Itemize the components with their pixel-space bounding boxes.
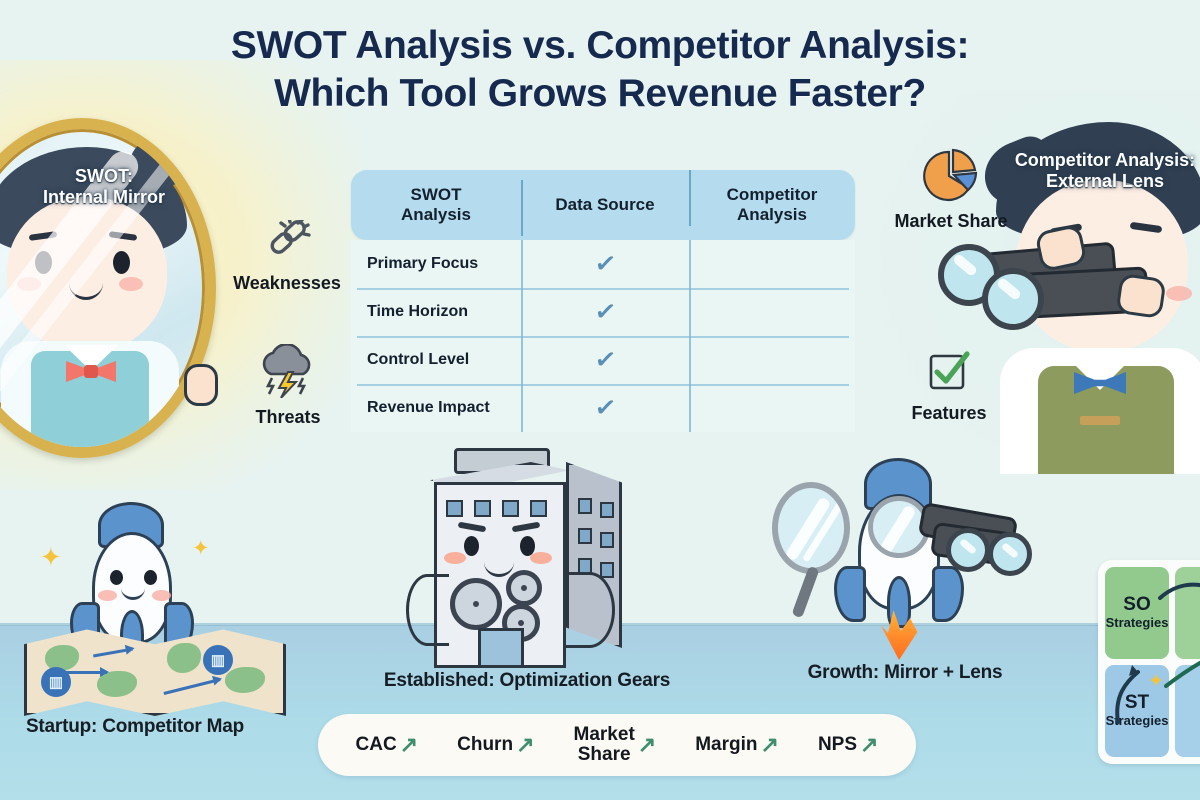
matrix-cell-word: Strategies [1106, 616, 1169, 630]
matrix-cell-so: SO Strategies [1105, 567, 1169, 659]
weaknesses-label: Weaknesses [232, 273, 342, 294]
trend-up-icon: ↗ [638, 733, 656, 756]
rocket-fin-center [887, 576, 911, 628]
metric-item: NPS ↗ [818, 733, 879, 756]
matrix-cell-wo-clipped: S [1175, 567, 1200, 659]
swot-mirror-illustration: SWOT: Internal Mirror [0, 118, 248, 478]
building-side-window [578, 528, 592, 544]
lens-figure-pocket [1080, 416, 1120, 425]
matrix-cell-word: Strategies [1106, 714, 1169, 728]
checkbox-icon [927, 350, 971, 394]
threats-group: Threats [238, 344, 338, 428]
map-pin-right: ▥ [203, 645, 233, 675]
check-icon: ✓ [593, 394, 617, 421]
sparkle-icon-left: ✦ [40, 544, 62, 570]
building-side-window [600, 502, 614, 518]
page-title: SWOT Analysis vs. Competitor Analysis: W… [0, 22, 1200, 118]
metric-label: Market Share [574, 725, 635, 765]
rocket-eye-left [110, 570, 123, 585]
building-window [474, 500, 491, 517]
rocket-fin-right [932, 566, 964, 622]
check-icon: ✓ [593, 298, 617, 325]
building-side-window [600, 562, 614, 578]
mirror-figure-eye-right [113, 251, 130, 274]
threats-label: Threats [238, 407, 338, 428]
metric-item: Churn ↗ [457, 733, 534, 756]
rocket-cheek-left [98, 590, 117, 601]
growth-binocular-lens-right [988, 532, 1032, 576]
competitor-lens-badge: Competitor Analysis: External Lens [990, 150, 1200, 192]
table-row: Time Horizon ✓ [351, 288, 855, 336]
startup-scene: ✦ ✦ ▥ ▥ Startup: Competitor Map [14, 492, 296, 732]
lens-figure-cheek [1166, 286, 1192, 301]
row-competitor-cell [689, 384, 855, 432]
table-row: Revenue Impact ✓ [351, 384, 855, 432]
matrix-cell-wt-clipped: S [1175, 665, 1200, 757]
features-group: Features [896, 350, 1002, 424]
rocket-fin-left [834, 566, 866, 622]
map-arrow-3 [163, 678, 220, 695]
mirror-figure-cheek-right [119, 277, 143, 291]
row-competitor-cell [689, 336, 855, 384]
trend-up-icon: ↗ [400, 733, 418, 756]
weaknesses-group: Weaknesses [232, 220, 342, 294]
market-share-label: Market Share [886, 211, 1016, 232]
trend-up-icon: ↗ [761, 733, 779, 756]
map-arrow-2 [93, 648, 133, 658]
row-competitor-cell [689, 240, 855, 288]
row-label: Primary Focus [351, 240, 521, 288]
gear-icon-large [450, 578, 502, 630]
metric-item: CAC ↗ [356, 733, 419, 756]
matrix-sparkle-icon: ✦ [1148, 672, 1164, 691]
startup-caption: Startup: Competitor Map [0, 716, 270, 738]
mirror-hand-right [184, 364, 218, 406]
table-col-header-swot: SWOT Analysis [351, 185, 521, 226]
table-header-row: SWOT Analysis Data Source Competitor Ana… [351, 170, 855, 240]
broken-chain-icon [263, 220, 311, 264]
row-competitor-cell [689, 288, 855, 336]
building-side-window [578, 498, 592, 514]
growth-binocular-lens-left [946, 528, 990, 572]
magnifier-handle [791, 566, 819, 619]
building-door [478, 628, 524, 668]
row-data-source-cell: ✓ [521, 384, 689, 432]
metric-label: Margin [695, 735, 757, 755]
comparison-table: SWOT Analysis Data Source Competitor Ana… [351, 170, 855, 432]
building-eye-left [464, 536, 479, 556]
metric-label: NPS [818, 735, 857, 755]
gear-icon-medium [506, 570, 542, 606]
building-cheek-left [444, 552, 466, 564]
building-side-window [600, 532, 614, 548]
table-row: Control Level ✓ [351, 336, 855, 384]
table-col-header-competitor: Competitor Analysis [689, 185, 855, 226]
table-row: Primary Focus ✓ [351, 240, 855, 288]
growth-scene: Growth: Mirror + Lens [760, 470, 1060, 685]
map-land-3 [167, 643, 201, 673]
row-data-source-cell: ✓ [521, 240, 689, 288]
building-arm-right [564, 572, 615, 648]
pie-chart-icon [923, 146, 979, 202]
rocket-cheek-right [152, 590, 171, 601]
swot-strategy-matrix: SO Strategies S ST Strategies S [1098, 560, 1200, 764]
left-clipped-label: s [0, 398, 30, 419]
infographic-canvas: SWOT Analysis vs. Competitor Analysis: W… [0, 0, 1200, 800]
magnifier-lens [772, 482, 850, 574]
row-label: Time Horizon [351, 288, 521, 336]
building-window [446, 500, 463, 517]
check-icon: ✓ [593, 250, 617, 277]
swot-mirror-badge: SWOT: Internal Mirror [4, 166, 204, 208]
map-pin-left: ▥ [41, 667, 71, 697]
trend-up-icon: ↗ [516, 733, 534, 756]
established-caption: Established: Optimization Gears [372, 670, 682, 692]
metrics-bar: CAC ↗ Churn ↗ Market Share ↗ Margin ↗ NP… [318, 714, 916, 776]
storm-cloud-icon [258, 344, 318, 398]
building-arm-left [406, 574, 449, 646]
table-col-header-data-source: Data Source [521, 195, 689, 215]
row-data-source-cell: ✓ [521, 336, 689, 384]
building-window [530, 500, 547, 517]
growth-caption: Growth: Mirror + Lens [770, 662, 1040, 684]
metric-label: Churn [457, 735, 513, 755]
matrix-cell-code: ST [1125, 693, 1149, 714]
building-cheek-right [530, 552, 552, 564]
table-body: Primary Focus ✓ Time Horizon ✓ Control L… [351, 240, 855, 432]
binocular-lens-right [982, 268, 1044, 330]
matrix-cell-code: SO [1123, 595, 1150, 616]
lens-figure-hand-right [1115, 273, 1166, 319]
rocket-eye-right [144, 570, 157, 585]
metric-item: Margin ↗ [695, 733, 779, 756]
mirror-figure-bowtie-knot [84, 365, 98, 378]
row-label: Control Level [351, 336, 521, 384]
established-scene: Established: Optimization Gears [402, 448, 652, 678]
trend-up-icon: ↗ [860, 733, 878, 756]
metric-item: Market Share ↗ [574, 725, 657, 765]
row-data-source-cell: ✓ [521, 288, 689, 336]
building-window [502, 500, 519, 517]
features-label: Features [896, 403, 1002, 424]
metric-label: CAC [356, 735, 397, 755]
map-land-4 [225, 667, 265, 693]
row-label: Revenue Impact [351, 384, 521, 432]
market-share-group: Market Share [886, 146, 1016, 232]
check-icon: ✓ [593, 346, 617, 373]
sparkle-icon-right: ✦ [192, 538, 210, 559]
